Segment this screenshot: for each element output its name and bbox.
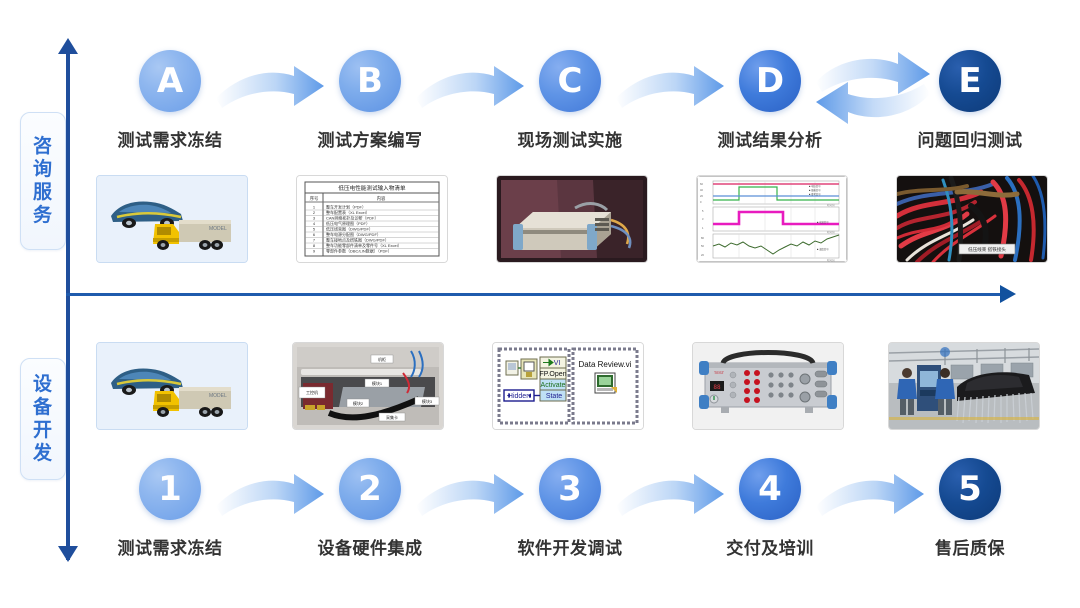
step-e[interactable]: E 问题回归测试 (870, 50, 1070, 151)
step-badge-4[interactable]: 4 (739, 458, 801, 520)
svg-text:低压线束 搭铁接头: 低压线束 搭铁接头 (968, 246, 1006, 253)
svg-text:■ 参考信号: ■ 参考信号 (809, 192, 821, 196)
thumb-factory-testing-photo[interactable] (888, 342, 1040, 430)
step-5[interactable]: 5 售后质保 (870, 458, 1070, 559)
svg-text:整车开发计划（PDF）: 整车开发计划（PDF） (326, 204, 366, 210)
step-badge-b[interactable]: B (339, 50, 401, 112)
svg-text:MODEL: MODEL (209, 226, 227, 232)
svg-text:采集卡: 采集卡 (386, 414, 398, 420)
step-label-c: 现场测试实施 (470, 126, 670, 151)
svg-text:机柜: 机柜 (378, 356, 386, 362)
svg-text:模块1: 模块1 (372, 380, 383, 386)
svg-text:MODEL: MODEL (209, 393, 227, 399)
svg-text:时间(s): 时间(s) (827, 203, 835, 207)
svg-text:时间(s): 时间(s) (827, 230, 835, 234)
svg-text:序号: 序号 (310, 195, 319, 202)
process-row-consulting: A 测试需求冻结 B 测试方案编写 C 现场测试实施 (0, 46, 1080, 296)
step-label-2: 设备硬件集成 (270, 534, 470, 559)
step-label-5: 售后质保 (870, 534, 1070, 559)
step-badge-e[interactable]: E (939, 50, 1001, 112)
thumb-rack-instrument-photo[interactable]: 88 (692, 342, 844, 430)
thumb-test-equipment-on-seat[interactable] (496, 175, 648, 263)
svg-text:88: 88 (713, 384, 721, 391)
thumb-input-checklist-table[interactable]: 低压电性能测试输入物清单 序号 内容 1整车开发计划（PDF） 2整车配置表（X… (296, 175, 448, 263)
thumb-waveform-analysis-chart[interactable]: 6040200 ■ 电压信号■ 使能信号■ 参考信号 531 ■ 电流信号 (696, 175, 848, 263)
thumb-hardware-cabinet-photo[interactable]: 机柜 模块1 模块2 模块3 采集卡 工控机 (292, 342, 444, 430)
svg-text:Data Review.vi: Data Review.vi (579, 360, 632, 369)
step-label-b: 测试方案编写 (270, 126, 470, 151)
process-row-equipment: MODEL 机柜 模块1 模块2 (0, 330, 1080, 580)
svg-text:VI: VI (554, 360, 561, 367)
svg-text:低压电性能测试输入物清单: 低压电性能测试输入物清单 (338, 184, 406, 192)
thumb-wiring-harness-photo[interactable]: 低压线束 搭铁接头 (896, 175, 1048, 263)
svg-text:TEST: TEST (714, 370, 725, 375)
diagram-canvas: 咨 询 服 务 设 备 开 发 A 测试需求冻结 B 测试方案编写 (0, 0, 1080, 608)
step-label-d: 测试结果分析 (670, 126, 870, 151)
svg-text:State: State (546, 393, 562, 400)
svg-text:Hidden: Hidden (508, 393, 530, 400)
step-badge-3[interactable]: 3 (539, 458, 601, 520)
svg-text:FP.Open: FP.Open (539, 371, 566, 378)
thumb-vehicles-car-truck[interactable]: MODEL (96, 175, 248, 263)
step-label-e: 问题回归测试 (870, 126, 1070, 151)
svg-text:模块2: 模块2 (353, 400, 364, 406)
step-label-4: 交付及培训 (670, 534, 870, 559)
svg-text:■ 电压信号: ■ 电压信号 (809, 184, 821, 188)
step-badge-a[interactable]: A (139, 50, 201, 112)
step-badge-2[interactable]: 2 (339, 458, 401, 520)
step-badge-5[interactable]: 5 (939, 458, 1001, 520)
svg-text:■ 使能信号: ■ 使能信号 (809, 188, 821, 192)
svg-text:■ 电流信号: ■ 电流信号 (817, 220, 829, 224)
step-badge-1[interactable]: 1 (139, 458, 201, 520)
thumb-labview-block-diagram[interactable]: VI FP.Open Activate State Hidden Data Re… (492, 342, 644, 430)
step-label-3: 软件开发调试 (470, 534, 670, 559)
step-badge-c[interactable]: C (539, 50, 601, 112)
svg-text:时间(s): 时间(s) (827, 258, 835, 262)
svg-text:工控机: 工控机 (306, 389, 318, 395)
step-label-1: 测试需求冻结 (70, 534, 270, 559)
svg-text:内容: 内容 (377, 195, 386, 202)
svg-text:模块3: 模块3 (422, 398, 433, 404)
svg-text:Activate: Activate (541, 382, 566, 389)
step-badge-d[interactable]: D (739, 50, 801, 112)
svg-text:■ 温度信号: ■ 温度信号 (817, 247, 829, 251)
thumb-vehicles-car-truck-2[interactable]: MODEL (96, 342, 248, 430)
step-label-a: 测试需求冻结 (70, 126, 270, 151)
